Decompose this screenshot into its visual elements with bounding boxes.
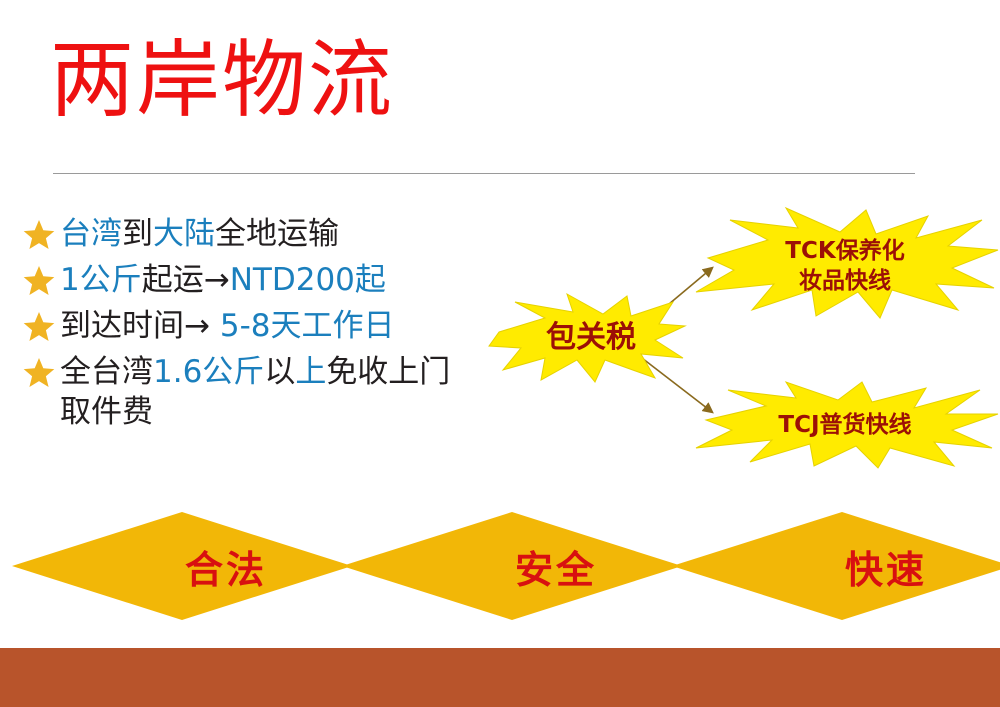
burst-tck: TCK保养化 妆品快线 — [690, 206, 1000, 326]
list-item-label: 1公斤起运→NTD200起 — [60, 260, 386, 300]
list-item: 到达时间→ 5-8天工作日 — [22, 306, 542, 346]
list-item: 全台湾1.6公斤以上免收上门取件费 — [22, 352, 542, 432]
footer-bar — [0, 648, 1000, 707]
list-item-label: 全台湾1.6公斤以上免收上门取件费 — [60, 352, 450, 432]
slide-canvas: 两岸物流 台湾到大陆全地运输 1公斤起运→NTD200起 — [0, 0, 1000, 707]
feature-list: 台湾到大陆全地运输 1公斤起运→NTD200起 到达时间→ 5-8天工作日 — [22, 214, 542, 438]
star-icon — [22, 356, 56, 390]
burst-customs-tax: 包关税 — [487, 292, 687, 384]
list-item: 1公斤起运→NTD200起 — [22, 260, 542, 300]
diamond-shape — [12, 512, 352, 620]
footer-text: 紅海物流歡迎您 — [836, 0, 976, 59]
list-item-label: 到达时间→ 5-8天工作日 — [60, 306, 394, 346]
diamond-shape — [672, 512, 1000, 620]
value-diamonds: 合法 安全 快速 — [0, 512, 1000, 620]
list-item-label: 台湾到大陆全地运输 — [60, 214, 339, 254]
page-title: 两岸物流 — [50, 38, 394, 122]
title-divider — [53, 173, 915, 174]
star-icon — [22, 264, 56, 298]
list-item: 台湾到大陆全地运输 — [22, 214, 542, 254]
burst-tcj: TCJ普货快线 — [690, 380, 1000, 470]
star-icon — [22, 218, 56, 252]
star-icon — [22, 310, 56, 344]
diamond-shape — [342, 512, 682, 620]
